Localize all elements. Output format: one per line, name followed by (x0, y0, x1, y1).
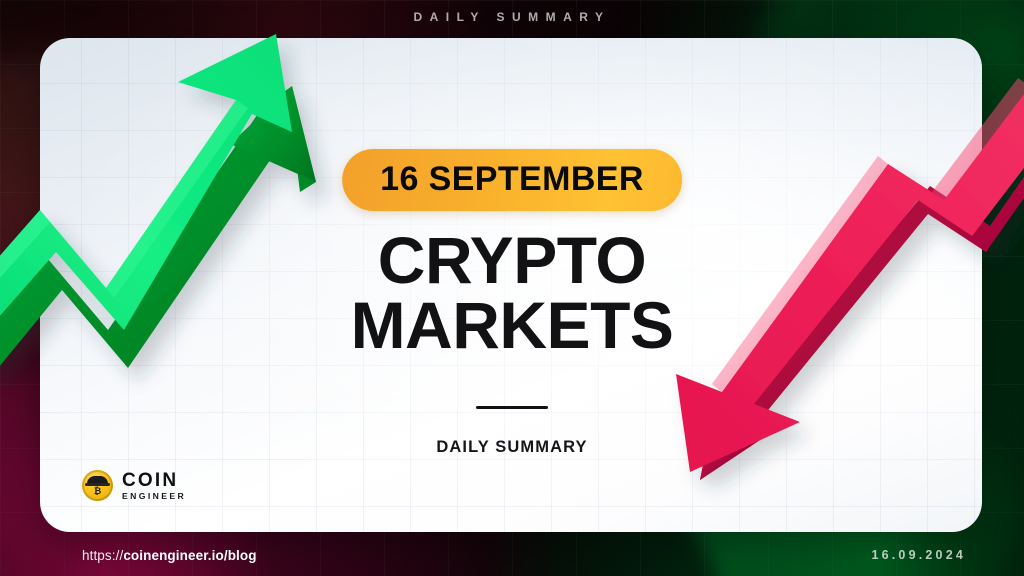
footer-url-host: coinengineer.io/blog (123, 548, 256, 563)
brand-logo-text: COIN ENGINEER (122, 471, 186, 501)
brand-logo[interactable]: ₿ COIN ENGINEER (82, 470, 186, 501)
poster-canvas: DAILY SUMMARY (0, 0, 1024, 576)
date-badge[interactable]: 16 SEPTEMBER (342, 149, 682, 211)
card-sheen (40, 38, 982, 532)
footer-url-protocol: https:// (82, 548, 123, 563)
main-card (40, 38, 982, 532)
footer-url[interactable]: https://coinengineer.io/blog (82, 548, 257, 563)
top-strip-label: DAILY SUMMARY (0, 10, 1024, 24)
coin-engineer-badge-icon: ₿ (82, 470, 113, 501)
bitcoin-symbol-icon: ₿ (93, 486, 102, 496)
footer-date: 16.09.2024 (871, 548, 966, 562)
brand-name-main: COIN (122, 471, 186, 490)
brand-name-sub: ENGINEER (122, 492, 186, 501)
